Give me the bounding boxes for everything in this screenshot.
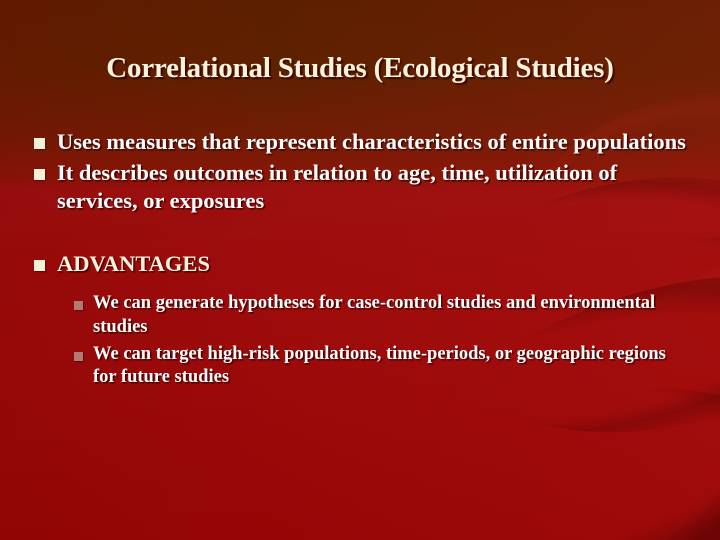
sub-bullet-item-2: We can target high-risk populations, tim… — [74, 343, 692, 390]
bullet-text: It describes outcomes in relation to age… — [57, 159, 694, 216]
slide-body: Uses measures that represent characteris… — [34, 128, 694, 393]
sub-bullet-list: We can generate hypotheses for case-cont… — [74, 292, 692, 389]
square-bullet-icon — [34, 138, 45, 149]
bullet-text: Uses measures that represent characteris… — [57, 128, 686, 157]
sub-bullet-item-1: We can generate hypotheses for case-cont… — [74, 292, 692, 339]
sub-bullet-text: We can target high-risk populations, tim… — [93, 343, 692, 390]
square-bullet-icon — [34, 260, 45, 271]
presentation-slide: Correlational Studies (Ecological Studie… — [0, 0, 720, 540]
bullet-text-heading: ADVANTAGES — [57, 250, 210, 279]
sub-bullet-text: We can generate hypotheses for case-cont… — [93, 292, 692, 339]
square-sub-bullet-icon — [74, 352, 83, 361]
slide-title: Correlational Studies (Ecological Studie… — [0, 52, 720, 85]
bullet-item-1: Uses measures that represent characteris… — [34, 128, 694, 157]
square-bullet-icon — [34, 169, 45, 180]
slide-content: Correlational Studies (Ecological Studie… — [0, 0, 720, 540]
bullet-item-2: It describes outcomes in relation to age… — [34, 159, 694, 216]
square-sub-bullet-icon — [74, 301, 83, 310]
bullet-item-advantages: ADVANTAGES — [34, 250, 694, 279]
body-spacer — [34, 218, 694, 250]
